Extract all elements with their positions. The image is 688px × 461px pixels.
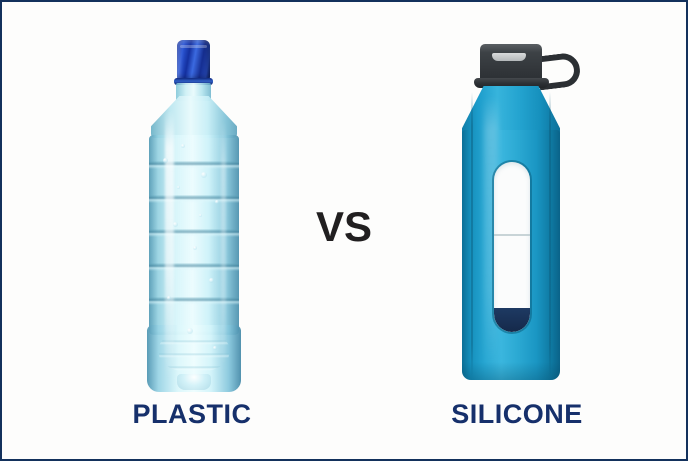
silicone-bottle-cap-icon	[480, 44, 542, 82]
silicone-bottle-shoulder	[462, 86, 560, 134]
versus-label: VS	[2, 206, 686, 248]
product-comparison-canvas: VS PLASTIC SILICONE	[0, 0, 688, 461]
condensation-droplet	[181, 144, 185, 148]
condensation-droplet	[177, 186, 180, 189]
silicone-bottle-image	[454, 44, 580, 380]
silicone-bottle-seam-right	[549, 92, 551, 378]
condensation-droplet	[201, 172, 207, 178]
caption-silicone: SILICONE	[352, 401, 682, 428]
condensation-droplet	[215, 200, 219, 204]
silicone-bottle-cap-insert	[492, 53, 526, 61]
condensation-droplet	[209, 278, 214, 283]
condensation-droplet	[213, 346, 217, 350]
condensation-droplet	[163, 158, 168, 163]
condensation-droplet	[187, 328, 193, 334]
condensation-droplet	[167, 296, 171, 300]
plastic-bottle-punt	[177, 374, 211, 390]
silicone-bottle-window-cutout	[494, 162, 530, 332]
silicone-bottle-bottom-rim	[462, 362, 560, 380]
plastic-bottle-cap-icon	[177, 40, 210, 80]
silicone-bottle-seam-left	[471, 92, 473, 378]
caption-plastic: PLASTIC	[2, 401, 382, 428]
silicone-bottle-window-band	[494, 234, 530, 236]
